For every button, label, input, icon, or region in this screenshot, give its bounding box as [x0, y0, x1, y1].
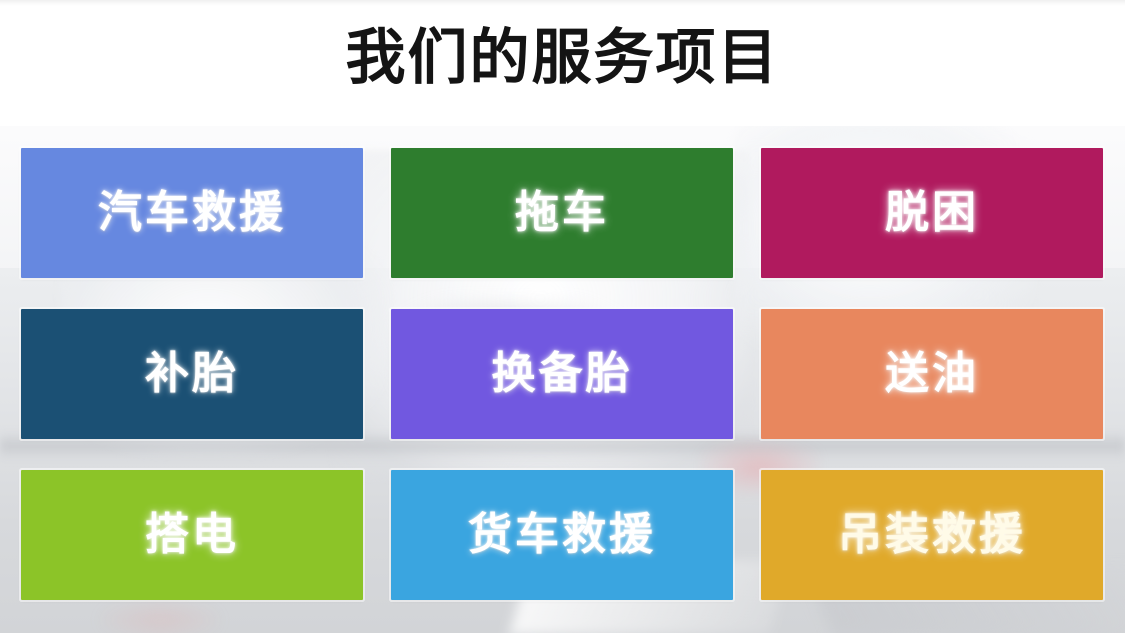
service-tile-label: 货车救援	[468, 509, 656, 561]
service-tile-tire-repair[interactable]: 补胎	[21, 309, 363, 439]
service-tile-crane-rescue[interactable]: 吊装救援	[761, 470, 1103, 600]
service-tile-extrication[interactable]: 脱困	[761, 148, 1103, 278]
service-tile-label: 吊装救援	[838, 509, 1026, 561]
service-tile-truck-rescue[interactable]: 货车救援	[391, 470, 733, 600]
service-poster: 我们的服务项目 汽车救援 拖车 脱困 补胎 换备胎 送油 搭电 货车救援 吊装救…	[0, 0, 1125, 633]
service-tile-label: 汽车救援	[98, 187, 286, 239]
service-tile-grid: 汽车救援 拖车 脱困 补胎 换备胎 送油 搭电 货车救援 吊装救援	[21, 148, 1104, 601]
service-tile-label: 送油	[885, 348, 979, 400]
service-tile-jump-start[interactable]: 搭电	[21, 470, 363, 600]
service-tile-label: 补胎	[145, 348, 239, 400]
service-tile-towing[interactable]: 拖车	[391, 148, 733, 278]
service-tile-label: 搭电	[145, 509, 239, 561]
header-band: 我们的服务项目	[0, 0, 1125, 126]
service-tile-fuel-delivery[interactable]: 送油	[761, 309, 1103, 439]
service-tile-label: 脱困	[885, 187, 979, 239]
service-tile-label: 换备胎	[492, 348, 633, 400]
top-hairline	[0, 0, 1125, 6]
service-tile-label: 拖车	[515, 187, 609, 239]
background-warm-glow	[100, 600, 220, 633]
service-tile-spare-tire-change[interactable]: 换备胎	[391, 309, 733, 439]
service-tile-car-rescue[interactable]: 汽车救援	[21, 148, 363, 278]
page-title: 我们的服务项目	[0, 22, 1125, 94]
